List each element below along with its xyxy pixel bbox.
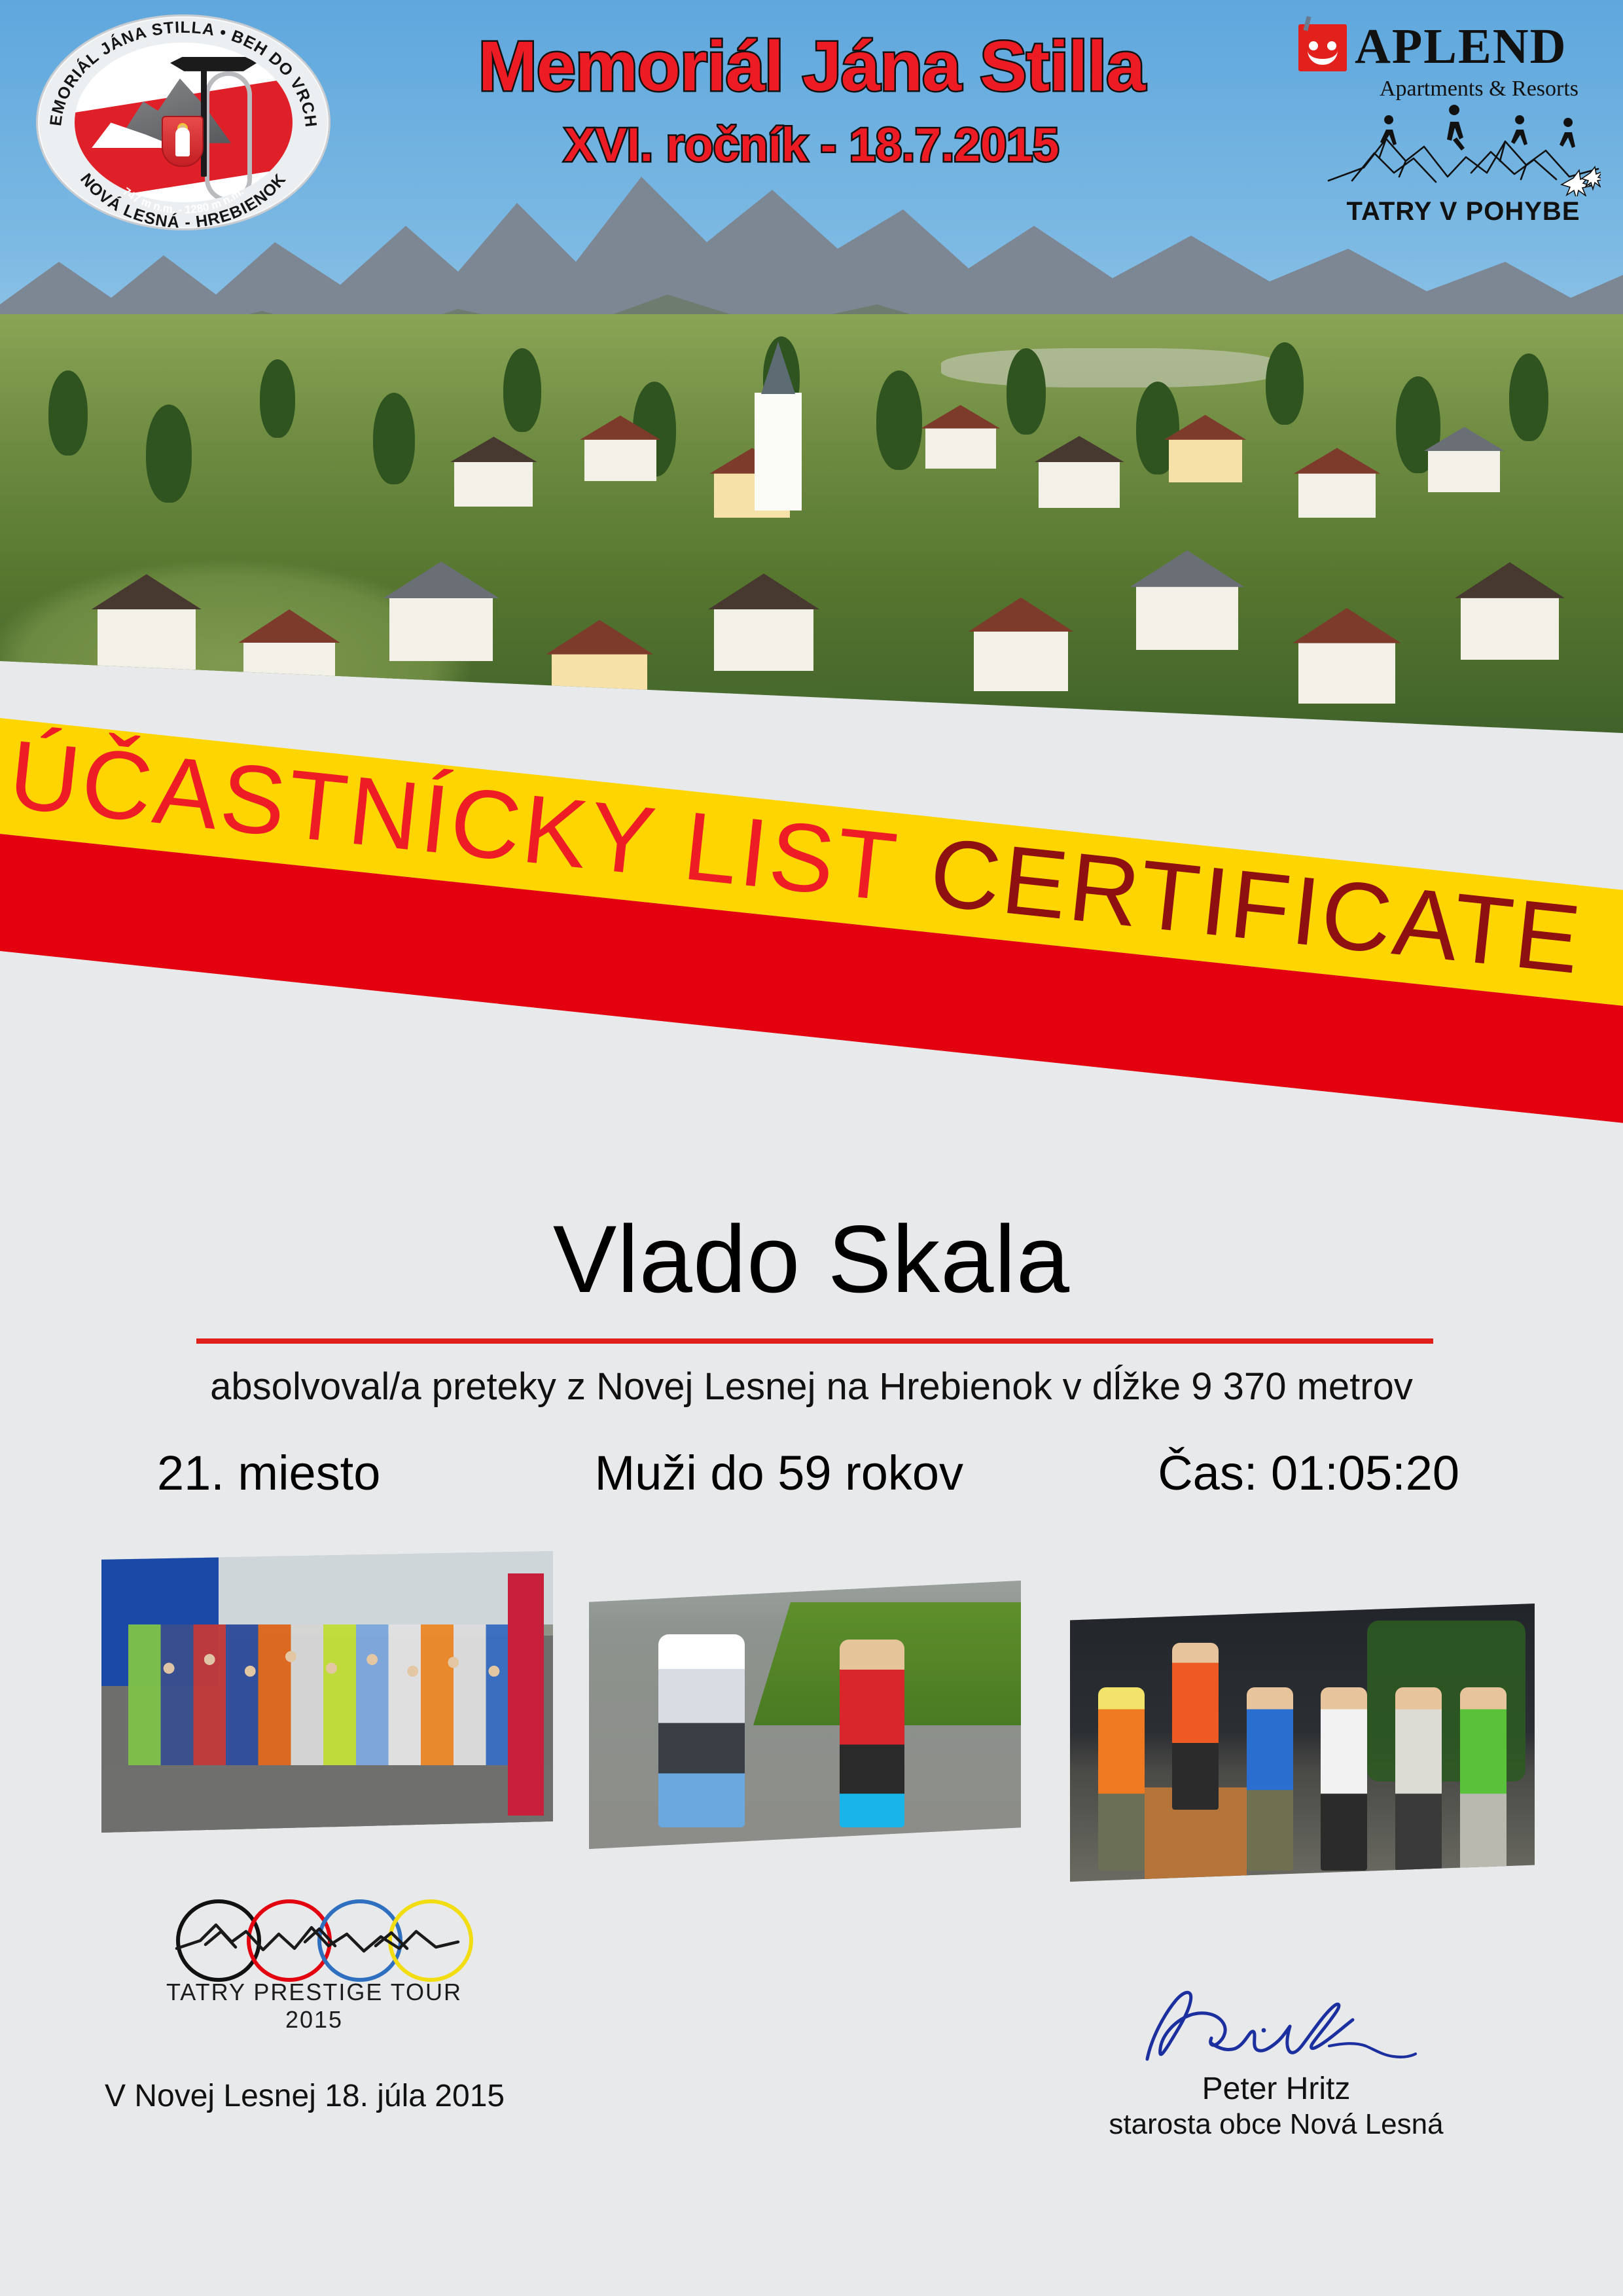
tatry-prestige-tour-logo: TATRY PRESTIGE TOUR 2015 — [151, 1888, 478, 2039]
tatry-v-pohybe-logo: TATRY V POHYBE — [1326, 105, 1601, 229]
race-description: absolvoval/a preteky z Novej Lesnej na H… — [0, 1365, 1623, 1408]
result-category: Muži do 59 rokov — [595, 1445, 964, 1501]
aplend-sponsor-logo: APLEND Apartments & Resorts — [1298, 16, 1599, 88]
event-emblem-logo: MEMORIÁL JÁNA STILLA • BEH DO VRCHU NOVÁ… — [36, 14, 330, 230]
name-underline-rule — [196, 1338, 1433, 1344]
results-row: 21. miesto Muži do 59 rokov Čas: 01:05:2… — [157, 1433, 1479, 1512]
event-subtitle: XVI. ročník - 18.7.2015 — [393, 121, 1230, 171]
village-pond — [730, 730, 829, 771]
signatory-role: starosta obce Nová Lesná — [1060, 2108, 1492, 2141]
aplend-house-smiley-icon — [1298, 24, 1347, 71]
place-and-date: V Novej Lesnej 18. júla 2015 — [105, 2078, 505, 2114]
photo-awards-podium — [1070, 1604, 1535, 1882]
svg-text:MEMORIÁL JÁNA STILLA • BEH D: MEMORIÁL JÁNA STILLA • BEH DO VRCHU — [36, 14, 320, 129]
signature-block: Peter Hritz starosta obce Nová Lesná — [1060, 1983, 1492, 2141]
mountain-lineart-icon — [1326, 105, 1601, 196]
church-building — [755, 393, 802, 511]
certificate-page: MEMORIÁL JÁNA STILLA • BEH DO VRCHU NOVÁ… — [0, 0, 1623, 2296]
emblem-arc-bottom-text: NOVÁ LESNÁ - HREBIENOK — [77, 170, 290, 230]
photo-cyclist-and-runner — [589, 1581, 1021, 1849]
emblem-arc-top-text: MEMORIÁL JÁNA STILLA • BEH DO VRCHU — [36, 14, 320, 129]
handwritten-signature — [1122, 1983, 1430, 2068]
svg-text:NOVÁ LESNÁ - HREBIENOK: NOVÁ LESNÁ - HREBIENOK — [77, 170, 290, 230]
result-time: Čas: 01:05:20 — [1158, 1445, 1459, 1501]
result-place: 21. miesto — [157, 1445, 380, 1501]
signatory-name: Peter Hritz — [1060, 2071, 1492, 2107]
participant-name: Vlado Skala — [0, 1204, 1623, 1314]
tatry-prestige-tour-label: TATRY PRESTIGE TOUR 2015 — [151, 1979, 478, 2034]
tatry-v-pohybe-label: TATRY V POHYBE — [1326, 197, 1601, 226]
olympic-style-rings-icon — [151, 1888, 478, 1993]
aplend-wordmark: APLEND — [1355, 22, 1567, 71]
photo-race-start — [101, 1551, 553, 1833]
aplend-tagline: Apartments & Resorts — [1359, 77, 1599, 101]
event-title: Memoriál Jána Stilla — [393, 29, 1230, 103]
